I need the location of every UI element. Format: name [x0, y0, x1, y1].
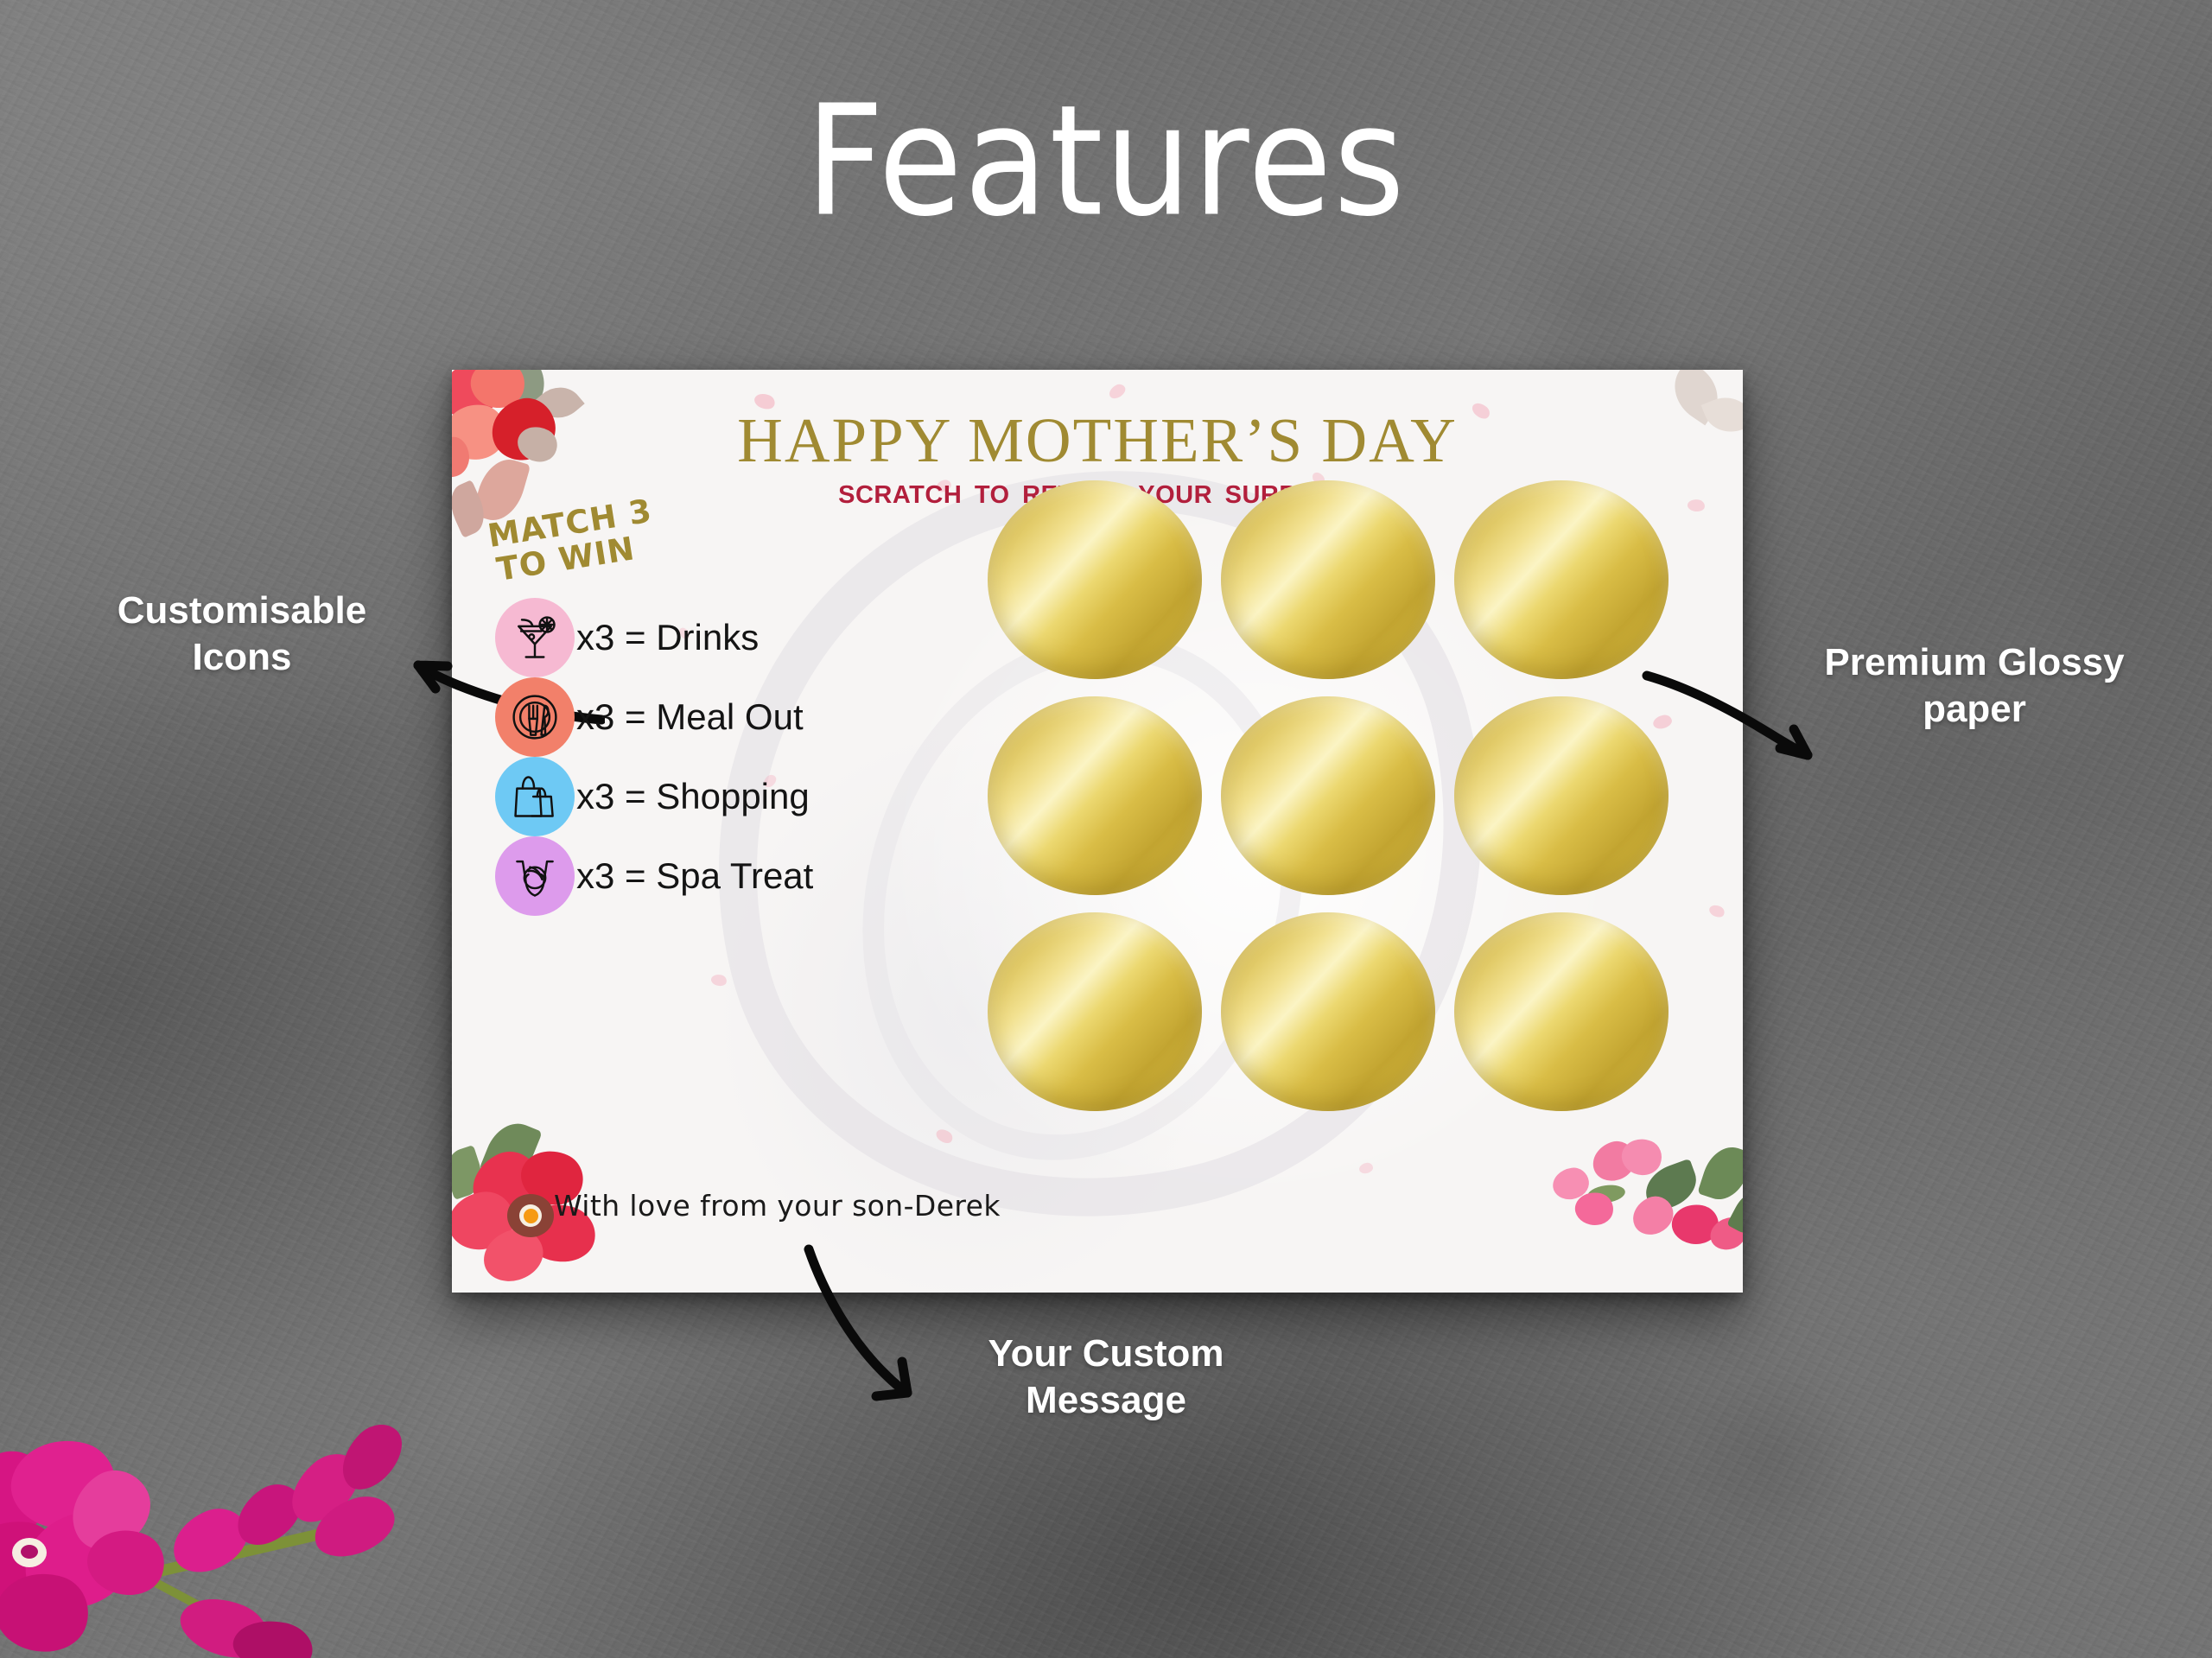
annotation-premium-glossy-paper: Premium Glossy paper — [1771, 639, 2177, 732]
plate-cutlery-icon — [495, 677, 575, 757]
scratch-panel[interactable] — [988, 480, 1202, 679]
scratch-card: HAPPY MOTHER’S DAY SCRATCH TO REVEAL YOU… — [452, 370, 1743, 1293]
legend-label-drinks: x3 = Drinks — [576, 617, 759, 658]
legend-item-shopping[interactable]: x3 = Shopping — [495, 758, 1031, 835]
cocktail-icon — [495, 598, 575, 677]
scratch-panel[interactable] — [1221, 696, 1435, 895]
confetti-petal — [1107, 382, 1128, 401]
floral-corner-bottom-right — [1549, 1139, 1743, 1293]
card-title: HAPPY MOTHER’S DAY — [452, 404, 1743, 477]
scratch-panel[interactable] — [988, 912, 1202, 1111]
annotation-your-custom-message: Your Custom Message — [933, 1331, 1279, 1423]
legend-label-meal-out: x3 = Meal Out — [576, 696, 804, 738]
legend-label-shopping: x3 = Shopping — [576, 776, 810, 817]
annotation-line2: paper — [1771, 686, 2177, 733]
confetti-petal — [934, 1127, 955, 1147]
scratch-panel[interactable] — [1454, 696, 1669, 895]
scratch-panel[interactable] — [1221, 912, 1435, 1111]
scratch-panel[interactable] — [1454, 480, 1669, 679]
legend-item-spa-treat[interactable]: x3 = Spa Treat — [495, 837, 1031, 915]
scratch-panel[interactable] — [988, 696, 1202, 895]
scratch-panel-grid — [988, 480, 1713, 1137]
annotation-line2: Message — [933, 1377, 1279, 1424]
page-title: Features — [0, 86, 2212, 238]
spa-hands-icon — [495, 836, 575, 916]
shopping-bags-icon — [495, 757, 575, 836]
annotation-line1: Premium Glossy — [1771, 639, 2177, 686]
custom-message-text: With love from your son-Derek — [554, 1189, 1001, 1223]
legend-item-meal-out[interactable]: x3 = Meal Out — [495, 678, 1031, 756]
scratch-panel[interactable] — [1221, 480, 1435, 679]
confetti-petal — [1358, 1162, 1374, 1174]
annotation-line1: Your Custom — [933, 1331, 1279, 1377]
annotation-customisable-icons: Customisable Icons — [60, 588, 423, 680]
scratch-panel[interactable] — [1454, 912, 1669, 1111]
annotation-line2: Icons — [60, 634, 423, 681]
prize-legend: x3 = Drinks x3 = Meal Out — [495, 599, 1031, 915]
confetti-petal — [710, 973, 728, 988]
legend-item-drinks[interactable]: x3 = Drinks — [495, 599, 1031, 677]
annotation-line1: Customisable — [60, 588, 423, 634]
legend-label-spa-treat: x3 = Spa Treat — [576, 855, 813, 897]
